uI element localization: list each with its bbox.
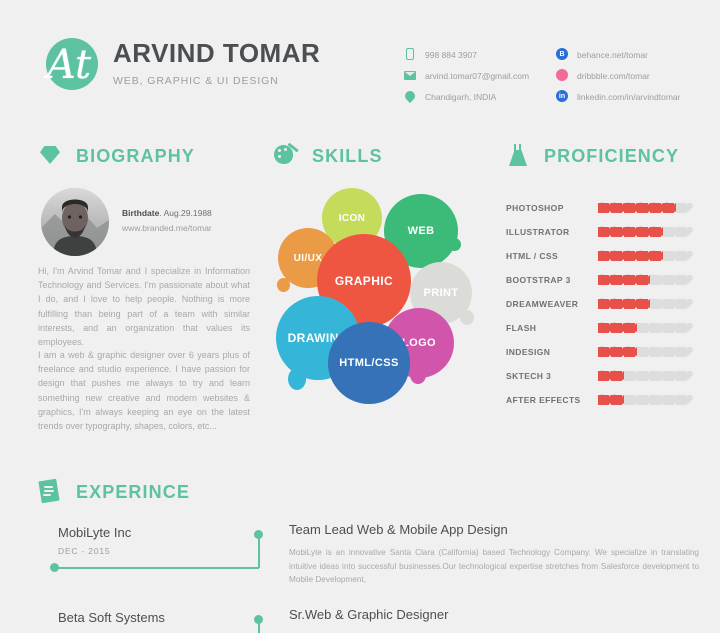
mail-icon [404, 69, 417, 82]
heart-icon [650, 227, 661, 237]
heart-icon [663, 395, 674, 405]
heart-icon [676, 371, 687, 381]
experience-role-1: Team Lead Web & Mobile App Design MobiLy… [289, 522, 699, 587]
timeline-connector-h-1 [54, 567, 259, 569]
heart-icon [611, 395, 622, 405]
heart-icon [598, 203, 609, 213]
bio-meta: Birthdate. Aug.29.1988 www.branded.me/to… [122, 208, 212, 233]
section-label-experience: EXPERINCE [76, 482, 190, 503]
proficiency-row: AFTER EFFECTS [506, 388, 706, 412]
heart-icon [663, 323, 674, 333]
heart-icon [598, 275, 609, 285]
birthdate: Birthdate. Aug.29.1988 [122, 208, 212, 218]
birthdate-value: . Aug.29.1988 [159, 208, 211, 218]
proficiency-rating [598, 347, 687, 357]
proficiency-rating [598, 323, 687, 333]
heart-icon [663, 275, 674, 285]
proficiency-row: BOOTSTRAP 3 [506, 268, 706, 292]
bio-paragraph-1: Hi, I'm Arvind Tomar and I specialize in… [38, 264, 250, 349]
contact-list-right: B behance.net/tomar dribbble.com/tomar i… [556, 48, 720, 111]
experience-role-2: Sr.Web & Graphic Designer [289, 607, 448, 622]
heart-icon [637, 299, 648, 309]
proficiency-row: ILLUSTRATOR [506, 220, 706, 244]
section-label-proficiency: PROFICIENCY [544, 146, 679, 167]
heart-icon [611, 203, 622, 213]
contact-location[interactable]: Chandigarh, INDIA [404, 90, 564, 103]
skill-bubble-label: HTML/CSS [339, 357, 398, 369]
header: At ARVIND TOMAR WEB, GRAPHIC & UI DESIGN… [0, 0, 720, 118]
heart-icon [650, 371, 661, 381]
proficiency-rating [598, 251, 687, 261]
section-title-skills: SKILLS [274, 142, 383, 170]
heart-icon [611, 251, 622, 261]
heart-icon [637, 323, 648, 333]
location-pin-icon [404, 90, 417, 103]
heart-icon [650, 251, 661, 261]
heart-icon [611, 275, 622, 285]
diamond-icon [38, 142, 64, 170]
experience-company-2: Beta Soft Systems [58, 610, 165, 631]
heart-icon [637, 251, 648, 261]
logo-initials: At [38, 36, 100, 94]
skill-bubble-label: PRINT [424, 287, 459, 299]
proficiency-name: ILLUSTRATOR [506, 227, 598, 237]
heart-icon [663, 299, 674, 309]
avatar [41, 188, 109, 256]
skill-bubble-label: UI/UX [294, 253, 323, 264]
proficiency-name: FLASH [506, 323, 598, 333]
heart-icon [650, 347, 661, 357]
heart-icon [663, 347, 674, 357]
heart-icon [637, 275, 648, 285]
heart-icon [650, 323, 661, 333]
heart-icon [637, 203, 648, 213]
heart-icon [624, 371, 635, 381]
heart-icon [650, 395, 661, 405]
heart-icon [650, 275, 661, 285]
heart-icon [611, 227, 622, 237]
heart-icon [611, 347, 622, 357]
contact-list-left: 998 884 3907 arvind.tomar07@gmail.com Ch… [404, 48, 564, 111]
heart-icon [598, 395, 609, 405]
heart-icon [637, 371, 648, 381]
proficiency-rating [598, 395, 687, 405]
heart-icon [598, 299, 609, 309]
skill-bubble-label: ICON [339, 213, 366, 224]
full-name: ARVIND TOMAR [113, 38, 320, 69]
heart-icon [676, 395, 687, 405]
proficiency-name: AFTER EFFECTS [506, 395, 598, 405]
proficiency-rating [598, 227, 687, 237]
proficiency-name: INDESIGN [506, 347, 598, 357]
heart-icon [624, 323, 635, 333]
heart-icon [624, 227, 635, 237]
name-block: ARVIND TOMAR WEB, GRAPHIC & UI DESIGN [113, 38, 320, 87]
skills-bubble-chart: ICONWEBUI/UXGRAPHICPRINTDRAWINGLOGOHTML/… [262, 186, 494, 436]
heart-icon [637, 227, 648, 237]
heart-icon [637, 347, 648, 357]
dribbble-icon [556, 69, 569, 82]
contact-email[interactable]: arvind.tomar07@gmail.com [404, 69, 564, 82]
proficiency-name: BOOTSTRAP 3 [506, 275, 598, 285]
heart-icon [611, 323, 622, 333]
timeline-dot-1b [50, 563, 59, 572]
heart-icon [663, 203, 674, 213]
experience-role-title-1: Team Lead Web & Mobile App Design [289, 522, 699, 537]
experience-company-1: MobiLyte Inc DEC - 2015 [58, 525, 131, 556]
heart-icon [663, 371, 674, 381]
heart-icon [598, 371, 609, 381]
palette-icon [274, 142, 300, 170]
job-tagline: WEB, GRAPHIC & UI DESIGN [113, 75, 320, 87]
heart-icon [663, 227, 674, 237]
experience-company-name-1: MobiLyte Inc [58, 525, 131, 540]
heart-icon [624, 251, 635, 261]
proficiency-name: SKTECH 3 [506, 371, 598, 381]
heart-icon [611, 371, 622, 381]
section-label-skills: SKILLS [312, 146, 383, 167]
link-linkedin-text: linkedin.com/in/arvindtomar [577, 92, 680, 102]
proficiency-rating [598, 299, 687, 309]
heart-icon [676, 227, 687, 237]
experience-description-1: MobiLyte is an innovative Santa Clara (C… [289, 546, 699, 587]
proficiency-name: DREAMWEAVER [506, 299, 598, 309]
phone-icon [404, 48, 417, 61]
heart-icon [624, 275, 635, 285]
heart-icon [624, 299, 635, 309]
section-title-proficiency: PROFICIENCY [506, 142, 679, 170]
experience-company-name-2: Beta Soft Systems [58, 610, 165, 625]
link-linkedin[interactable]: in linkedin.com/in/arvindtomar [556, 90, 720, 103]
heart-icon [598, 227, 609, 237]
heart-icon [676, 275, 687, 285]
bio-paragraph-2: I am a web & graphic designer over 6 yea… [38, 348, 250, 433]
section-title-biography: BIOGRAPHY [38, 142, 195, 170]
proficiency-row: SKTECH 3 [506, 364, 706, 388]
link-behance-text: behance.net/tomar [577, 50, 648, 60]
heart-icon [637, 395, 648, 405]
skill-bubble-label: GRAPHIC [335, 274, 393, 288]
experience-role-title-2: Sr.Web & Graphic Designer [289, 607, 448, 622]
heart-icon [611, 299, 622, 309]
heart-icon [650, 299, 661, 309]
link-behance[interactable]: B behance.net/tomar [556, 48, 720, 61]
proficiency-rating [598, 275, 687, 285]
behance-icon: B [556, 48, 569, 61]
section-label-biography: BIOGRAPHY [76, 146, 195, 167]
timeline-connector-v-2 [258, 619, 260, 633]
proficiency-row: HTML / CSS [506, 244, 706, 268]
resume-page: At ARVIND TOMAR WEB, GRAPHIC & UI DESIGN… [0, 0, 720, 632]
heart-icon [676, 203, 687, 213]
avatar-image [41, 188, 109, 256]
heart-icon [624, 203, 635, 213]
proficiency-name: HTML / CSS [506, 251, 598, 261]
proficiency-row: PHOTOSHOP [506, 196, 706, 220]
proficiency-rating [598, 371, 687, 381]
heart-icon [598, 251, 609, 261]
proficiency-row: INDESIGN [506, 340, 706, 364]
heart-icon [676, 347, 687, 357]
heart-icon [676, 323, 687, 333]
timeline-connector-v-1 [258, 534, 260, 568]
proficiency-row: DREAMWEAVER [506, 292, 706, 316]
skill-bubble[interactable]: HTML/CSS [328, 322, 410, 404]
proficiency-row: FLASH [506, 316, 706, 340]
linkedin-icon: in [556, 90, 569, 103]
heart-icon [624, 395, 635, 405]
document-icon [38, 478, 64, 506]
contact-phone[interactable]: 998 884 3907 [404, 48, 564, 61]
link-dribbble-text: dribbble.com/tomar [577, 71, 650, 81]
heart-icon [624, 347, 635, 357]
logo: At [38, 36, 100, 94]
heart-icon [598, 323, 609, 333]
personal-website[interactable]: www.branded.me/tomar [122, 223, 212, 233]
experience-date-1: DEC - 2015 [58, 546, 131, 556]
heart-icon [650, 203, 661, 213]
flask-icon [506, 142, 532, 170]
heart-icon [676, 299, 687, 309]
birthdate-label: Birthdate [122, 208, 159, 218]
heart-icon [676, 251, 687, 261]
link-dribbble[interactable]: dribbble.com/tomar [556, 69, 720, 82]
skill-bubble-label: WEB [408, 225, 435, 237]
contact-email-text: arvind.tomar07@gmail.com [425, 71, 529, 81]
proficiency-list: PHOTOSHOPILLUSTRATORHTML / CSSBOOTSTRAP … [506, 196, 706, 412]
heart-icon [598, 347, 609, 357]
section-title-experience: EXPERINCE [38, 478, 190, 506]
heart-icon [663, 251, 674, 261]
proficiency-rating [598, 203, 687, 213]
contact-location-text: Chandigarh, INDIA [425, 92, 496, 102]
proficiency-name: PHOTOSHOP [506, 203, 598, 213]
contact-phone-text: 998 884 3907 [425, 50, 477, 60]
